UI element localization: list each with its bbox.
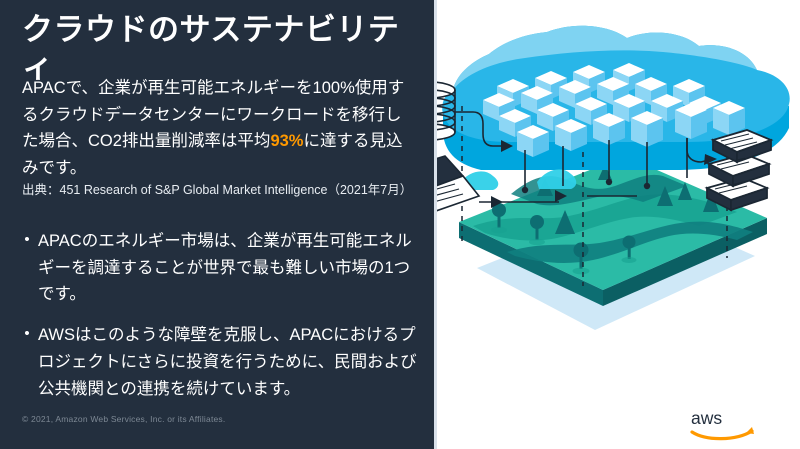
slide-root: クラウドのサステナビリティ APACで、企業が再生可能エネルギーを100%使用す… bbox=[0, 0, 800, 449]
list-item: • APACのエネルギー市場は、企業が再生可能エネルギーを調達することが世界で最… bbox=[16, 228, 420, 308]
list-item-text: APACのエネルギー市場は、企業が再生可能エネルギーを調達することが世界で最も難… bbox=[38, 228, 420, 308]
book-stack-icon bbox=[707, 130, 771, 210]
list-item-text: AWSはこのような障壁を克服し、APACにおけるプロジェクトにさらに投資を行うた… bbox=[38, 322, 420, 402]
list-item: • AWSはこのような障壁を克服し、APACにおけるプロジェクトにさらに投資を行… bbox=[16, 322, 420, 402]
copyright-notice: © 2021, Amazon Web Services, Inc. or its… bbox=[22, 414, 225, 424]
highlight-percentage: 93% bbox=[270, 132, 303, 150]
cloud-to-earth-sustainability-illustration bbox=[437, 0, 800, 400]
bullet-marker-icon: • bbox=[16, 228, 38, 252]
bullet-marker-icon: • bbox=[16, 322, 38, 346]
lead-paragraph: APACで、企業が再生可能エネルギーを100%使用するクラウドデータセンターにワ… bbox=[22, 75, 414, 182]
aws-wordmark: aws bbox=[691, 408, 722, 428]
bullet-list: • APACのエネルギー市場は、企業が再生可能エネルギーを調達することが世界で最… bbox=[16, 228, 420, 416]
source-citation: 出典：451 Research of S&P Global Market Int… bbox=[22, 181, 414, 200]
cloud-puff-icon bbox=[459, 169, 576, 190]
aws-logo: aws bbox=[690, 408, 756, 442]
